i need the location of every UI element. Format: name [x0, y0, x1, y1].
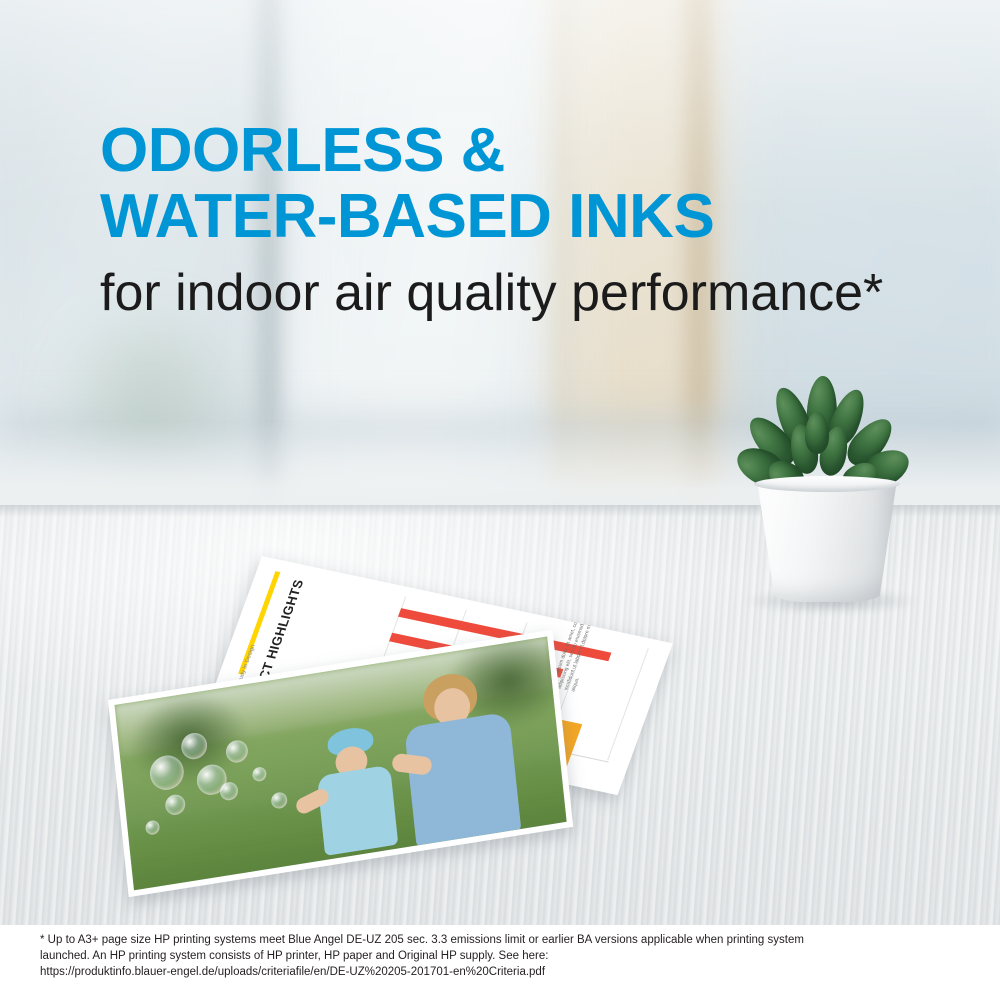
succulent-leaf — [805, 412, 829, 454]
parent-figure — [380, 662, 546, 855]
footnote-line-3: https://produktinfo.blauer-engel.de/uplo… — [40, 964, 970, 980]
headline-subline: for indoor air quality performance* — [100, 262, 960, 324]
plant-pot — [757, 480, 897, 602]
footnote: * Up to A3+ page size HP printing system… — [40, 932, 970, 980]
parent-shirt — [404, 711, 521, 847]
poster-canvas: ODORLESS & WATER-BASED INKS for indoor a… — [0, 0, 1000, 1000]
footnote-line-2: launched. An HP printing system consists… — [40, 948, 970, 964]
footnote-line-1: * Up to A3+ page size HP printing system… — [40, 932, 970, 948]
soap-bubble — [252, 766, 267, 782]
plant-pot-rim — [754, 476, 900, 492]
potted-plant — [735, 372, 925, 632]
soap-bubble — [219, 781, 239, 802]
child-shirt — [317, 765, 398, 856]
headline-line-1: ODORLESS & — [100, 118, 960, 184]
headline-block: ODORLESS & WATER-BASED INKS for indoor a… — [100, 118, 960, 324]
headline-line-2: WATER-BASED INKS — [100, 184, 960, 250]
